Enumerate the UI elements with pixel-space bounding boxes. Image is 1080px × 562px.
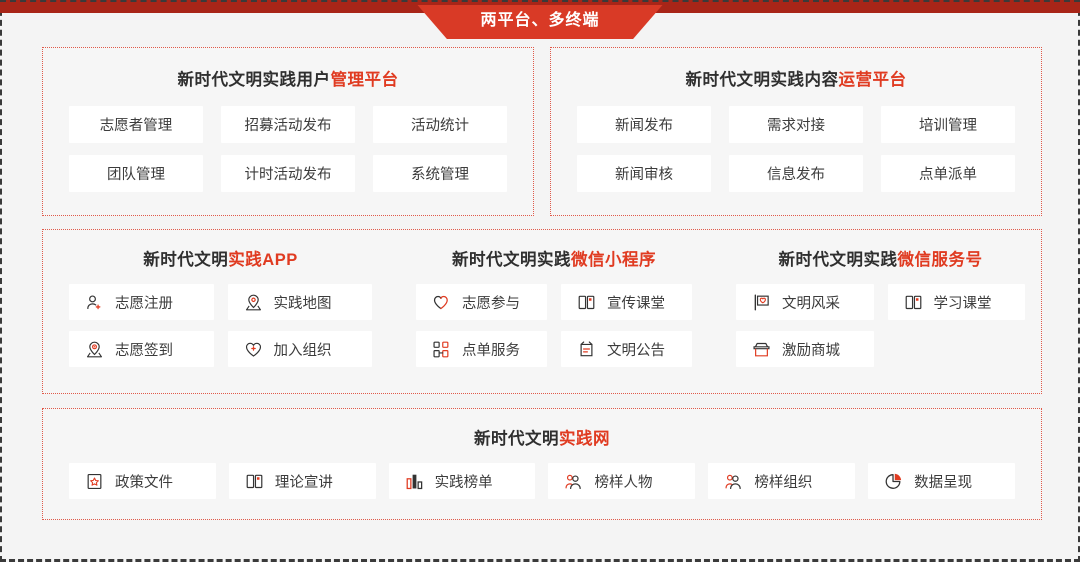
flag-heart-icon xyxy=(752,293,771,312)
bar-chart-icon xyxy=(405,472,424,491)
card-item-publicity-classroom[interactable]: 宣传课堂 xyxy=(561,284,692,320)
card-item-study-classroom[interactable]: 学习课堂 xyxy=(888,284,1026,320)
card-item-civilization-announcement[interactable]: 文明公告 xyxy=(561,331,692,367)
card-label: 理论宣讲 xyxy=(275,471,333,492)
website-row: 新时代文明实践网 政策文件 理论宣讲 xyxy=(42,408,1042,520)
map-pin-check-icon xyxy=(85,340,104,359)
open-book-icon xyxy=(904,293,923,312)
card-item-volunteer-register[interactable]: 志愿注册 xyxy=(69,284,214,320)
card-label: 学习课堂 xyxy=(934,292,992,313)
open-book-icon xyxy=(577,293,596,312)
infographic-root: 两平台、多终端 新时代文明实践用户管理平台 志愿者管理 招募活动发布 活动统计 … xyxy=(0,0,1080,562)
title-accent: 微信服务号 xyxy=(898,251,983,269)
card-label: 志愿注册 xyxy=(115,292,173,313)
card-label: 志愿签到 xyxy=(115,339,173,360)
card-grid: 志愿者管理 招募活动发布 活动统计 团队管理 计时活动发布 系统管理 xyxy=(43,90,533,192)
card-label: 政策文件 xyxy=(115,471,173,492)
title-accent: 实践APP xyxy=(228,251,297,269)
panel-terminals: 新时代文明实践APP 新时代文明实践微信小程序 新时代文明实践微信服务号 xyxy=(42,229,1042,394)
card-item-practice-ranking[interactable]: 实践榜单 xyxy=(389,463,536,499)
card-label: 激励商城 xyxy=(782,339,840,360)
card-item[interactable]: 系统管理 xyxy=(373,155,507,192)
terminal-card-columns: 志愿注册 实践地图 xyxy=(43,270,1041,367)
website-card-grid: 政策文件 理论宣讲 实践榜单 xyxy=(43,449,1041,499)
card-label: 榜样人物 xyxy=(594,471,652,492)
panel-title-service-account: 新时代文明实践微信服务号 xyxy=(714,246,1047,270)
panel-title: 新时代文明实践用户管理平台 xyxy=(43,66,533,90)
card-item[interactable]: 活动统计 xyxy=(373,106,507,143)
card-label: 文明风采 xyxy=(782,292,840,313)
card-label: 实践地图 xyxy=(274,292,332,313)
panel-title: 新时代文明实践内容运营平台 xyxy=(551,66,1041,90)
title-accent: 运营平台 xyxy=(839,71,907,89)
panel-user-management-platform: 新时代文明实践用户管理平台 志愿者管理 招募活动发布 活动统计 团队管理 计时活… xyxy=(42,47,534,216)
card-label: 加入组织 xyxy=(274,339,332,360)
card-item-civilization-style[interactable]: 文明风采 xyxy=(736,284,874,320)
card-grid: 新闻发布 需求对接 培训管理 新闻审核 信息发布 点单派单 xyxy=(551,90,1041,192)
heart-icon xyxy=(432,293,451,312)
title-main: 新时代文明实践 xyxy=(779,251,898,269)
panel-title-miniprogram: 新时代文明实践微信小程序 xyxy=(394,246,714,270)
card-item-incentive-mall[interactable]: 激励商城 xyxy=(736,331,874,367)
miniprogram-card-grid: 志愿参与 宣传课堂 xyxy=(394,284,714,367)
card-item[interactable]: 新闻发布 xyxy=(577,106,711,143)
open-book-icon xyxy=(245,472,264,491)
app-card-grid: 志愿注册 实践地图 xyxy=(47,284,394,367)
card-item-policy-documents[interactable]: 政策文件 xyxy=(69,463,216,499)
announcement-board-icon xyxy=(577,340,596,359)
card-item-data-presentation[interactable]: 数据呈现 xyxy=(868,463,1015,499)
panel-practice-website: 新时代文明实践网 政策文件 理论宣讲 xyxy=(42,408,1042,520)
title-accent: 管理平台 xyxy=(331,71,399,89)
card-item[interactable]: 新闻审核 xyxy=(577,155,711,192)
card-item-join-organization[interactable]: 加入组织 xyxy=(228,331,373,367)
card-label: 志愿参与 xyxy=(462,292,520,313)
card-label: 文明公告 xyxy=(607,339,665,360)
title-main: 新时代文明实践用户 xyxy=(178,71,331,89)
banner-ribbon: 两平台、多终端 xyxy=(418,5,663,39)
banner-title: 两平台、多终端 xyxy=(480,13,599,31)
card-item[interactable]: 培训管理 xyxy=(881,106,1015,143)
service-account-card-grid: 文明风采 学习课堂 xyxy=(714,284,1047,367)
title-accent: 微信小程序 xyxy=(571,251,656,269)
person-add-icon xyxy=(85,293,104,312)
card-item[interactable]: 信息发布 xyxy=(729,155,863,192)
card-item-order-service[interactable]: 点单服务 xyxy=(416,331,547,367)
heart-plus-icon xyxy=(244,340,263,359)
panel-title: 新时代文明实践网 xyxy=(43,425,1041,449)
map-pin-icon xyxy=(244,293,263,312)
shop-icon xyxy=(752,340,771,359)
card-item[interactable]: 招募活动发布 xyxy=(221,106,355,143)
card-item-volunteer-participate[interactable]: 志愿参与 xyxy=(416,284,547,320)
terminals-row: 新时代文明实践APP 新时代文明实践微信小程序 新时代文明实践微信服务号 xyxy=(42,229,1042,394)
title-main: 新时代文明实践 xyxy=(452,251,571,269)
card-item[interactable]: 需求对接 xyxy=(729,106,863,143)
card-label: 实践榜单 xyxy=(435,471,493,492)
title-main: 新时代文明 xyxy=(143,251,228,269)
card-item[interactable]: 计时活动发布 xyxy=(221,155,355,192)
card-item-role-model-person[interactable]: 榜样人物 xyxy=(548,463,695,499)
title-accent: 实践网 xyxy=(559,430,610,448)
title-main: 新时代文明实践内容 xyxy=(686,71,839,89)
card-item-volunteer-checkin[interactable]: 志愿签到 xyxy=(69,331,214,367)
card-item[interactable]: 志愿者管理 xyxy=(69,106,203,143)
two-people-icon xyxy=(564,472,583,491)
platforms-row: 新时代文明实践用户管理平台 志愿者管理 招募活动发布 活动统计 团队管理 计时活… xyxy=(42,47,1042,216)
two-people-icon xyxy=(724,472,743,491)
card-item-practice-map[interactable]: 实践地图 xyxy=(228,284,373,320)
card-item[interactable]: 团队管理 xyxy=(69,155,203,192)
document-star-icon xyxy=(85,472,104,491)
card-item-placeholder xyxy=(888,331,1026,367)
panel-content-operation-platform: 新时代文明实践内容运营平台 新闻发布 需求对接 培训管理 新闻审核 信息发布 点… xyxy=(550,47,1042,216)
pie-chart-icon xyxy=(884,472,903,491)
card-label: 数据呈现 xyxy=(914,471,972,492)
card-item-theory-lecture[interactable]: 理论宣讲 xyxy=(229,463,376,499)
card-item-role-model-organization[interactable]: 榜样组织 xyxy=(708,463,855,499)
terminal-titles: 新时代文明实践APP 新时代文明实践微信小程序 新时代文明实践微信服务号 xyxy=(43,246,1041,270)
card-label: 宣传课堂 xyxy=(607,292,665,313)
title-main: 新时代文明 xyxy=(474,430,559,448)
card-label: 点单服务 xyxy=(462,339,520,360)
panel-title-app: 新时代文明实践APP xyxy=(47,246,394,270)
service-list-icon xyxy=(432,340,451,359)
card-label: 榜样组织 xyxy=(754,471,812,492)
card-item[interactable]: 点单派单 xyxy=(881,155,1015,192)
